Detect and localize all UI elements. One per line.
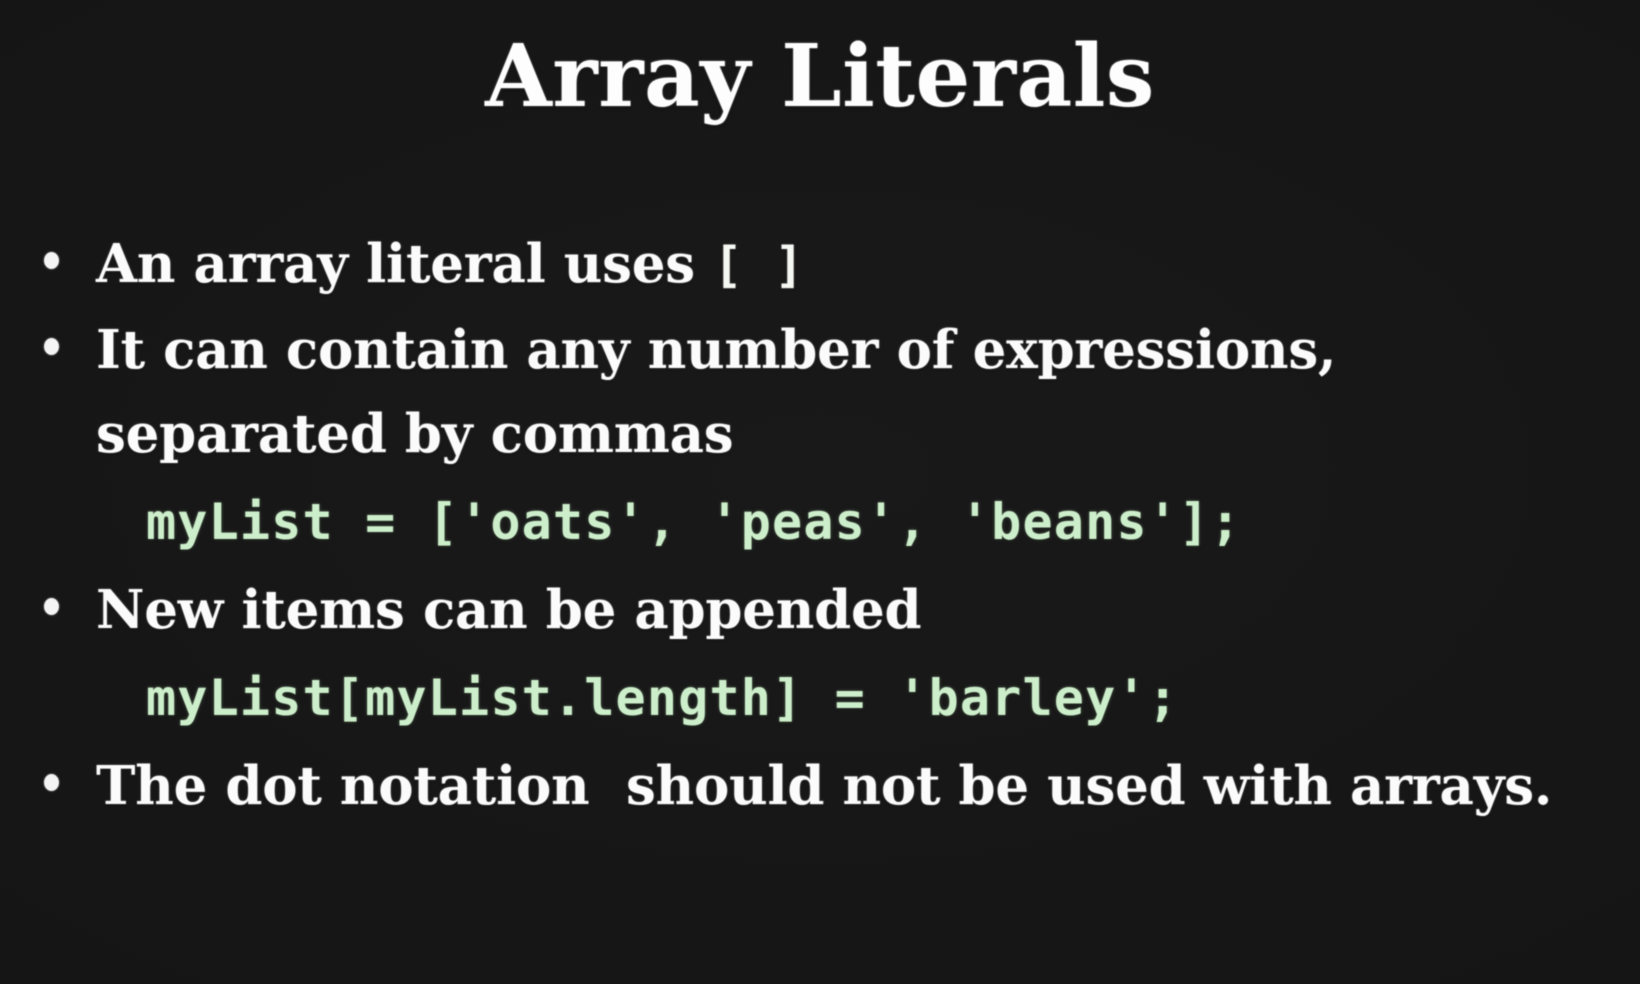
- slide-title: Array Literals: [0, 22, 1640, 132]
- bullet-dot-icon: [44, 338, 59, 355]
- bullet-dot-icon: [44, 252, 59, 269]
- code-line-1-text: myList = ['oats', 'peas', 'beans'];: [146, 476, 1616, 568]
- bullet-item-2: It can contain any number of expressions…: [36, 308, 1616, 476]
- bullet-item-4-text: The dot notation should not be used with…: [96, 744, 1616, 828]
- code-line-2: myList[myList.length] = 'barley';: [36, 652, 1616, 744]
- bullet-dot-icon: [44, 598, 59, 615]
- bullet-item-1-text: An array literal uses [ ]: [96, 222, 1616, 308]
- presentation-slide: Array Literals An array literal uses [ ]…: [0, 0, 1640, 984]
- bullet-item-1-label: An array literal uses: [96, 233, 713, 295]
- slide-body: An array literal uses [ ] It can contain…: [36, 222, 1616, 828]
- bullet-item-3: New items can be appended: [36, 568, 1616, 652]
- bullet-item-1-code-token: [ ]: [713, 237, 805, 294]
- code-line-2-text: myList[myList.length] = 'barley';: [146, 652, 1616, 744]
- slide-content: Array Literals An array literal uses [ ]…: [0, 0, 1640, 984]
- bullet-dot-icon: [44, 774, 59, 791]
- bullet-item-3-text: New items can be appended: [96, 568, 1616, 652]
- bullet-item-4: The dot notation should not be used with…: [36, 744, 1616, 828]
- code-line-1: myList = ['oats', 'peas', 'beans'];: [36, 476, 1616, 568]
- bullet-item-2-text: It can contain any number of expressions…: [96, 308, 1616, 476]
- bullet-item-1: An array literal uses [ ]: [36, 222, 1616, 308]
